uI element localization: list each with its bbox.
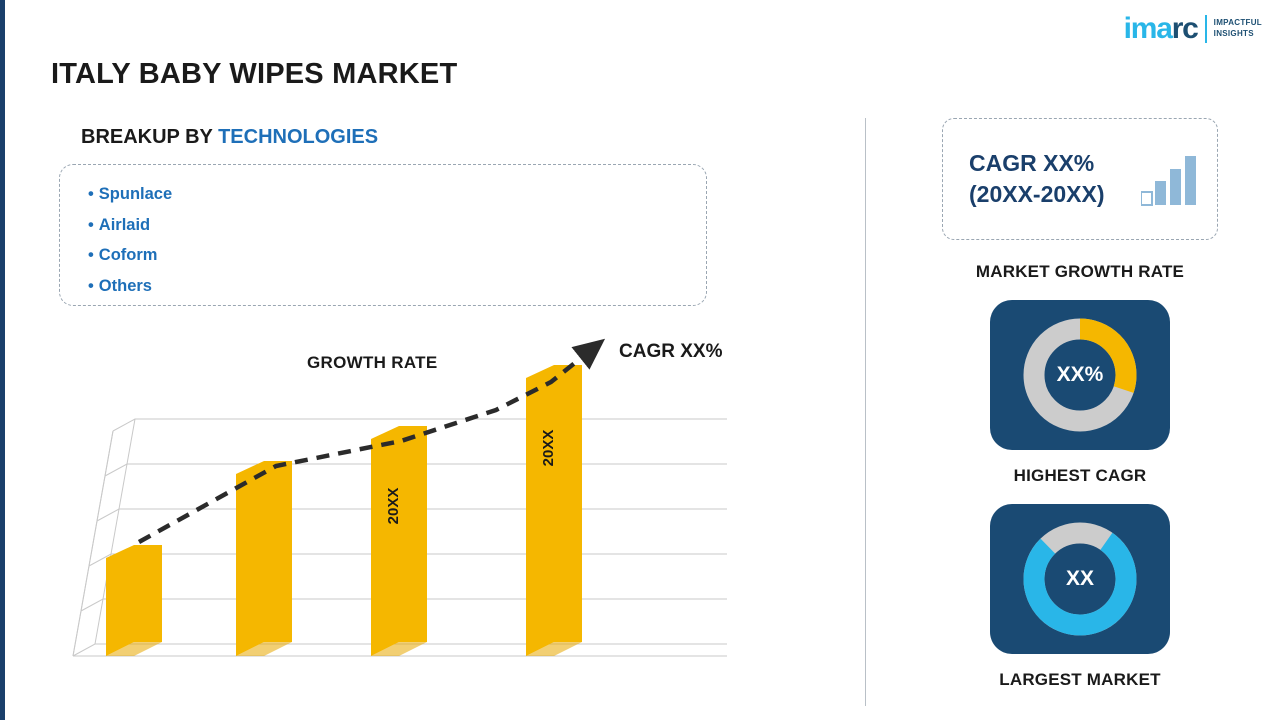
chart-axis-label: GROWTH RATE	[307, 353, 437, 373]
technologies-list: •Spunlace •Airlaid •Coform •Others	[88, 179, 678, 301]
growth-chart: 20XX 20XX CAGR XX%	[51, 326, 811, 704]
bullet-icon: •	[88, 246, 94, 264]
page-title: ITALY BABY WIPES MARKET	[51, 58, 457, 91]
breakup-heading: BREAKUP BY TECHNOLOGIES	[81, 126, 378, 149]
logo-word-second: rc	[1172, 12, 1198, 45]
highest-cagr-value: XX%	[1057, 363, 1104, 387]
largest-market-caption: LARGEST MARKET	[885, 670, 1275, 690]
largest-market-card: XX	[990, 504, 1170, 654]
list-item: •Others	[88, 271, 678, 302]
largest-market-value: XX	[1066, 567, 1094, 591]
bar-2	[236, 461, 292, 656]
technologies-list-box: •Spunlace •Airlaid •Coform •Others	[59, 164, 707, 306]
list-item-label: Spunlace	[99, 185, 172, 203]
bar-4: 20XX	[526, 365, 582, 656]
breakup-heading-prefix: BREAKUP BY	[81, 126, 218, 148]
highest-cagr-card: XX%	[990, 300, 1170, 450]
logo-divider	[1205, 15, 1207, 43]
logo-tagline-line1: IMPACTFUL	[1214, 18, 1262, 29]
list-item-label: Others	[99, 277, 152, 295]
breakup-heading-accent: TECHNOLOGIES	[218, 126, 378, 148]
logo-word-first: ima	[1124, 12, 1172, 45]
list-item: •Airlaid	[88, 210, 678, 241]
cagr-value: CAGR XX% (20XX-20XX)	[969, 148, 1105, 210]
logo-wordmark: imarc	[1124, 14, 1198, 44]
list-item-label: Airlaid	[99, 216, 150, 234]
growth-chart-svg: 20XX 20XX	[51, 326, 811, 686]
list-item-label: Coform	[99, 246, 158, 264]
list-item: •Spunlace	[88, 179, 678, 210]
cagr-trend-line	[139, 350, 591, 542]
market-growth-rate-caption: MARKET GROWTH RATE	[885, 262, 1275, 282]
vertical-divider	[865, 118, 866, 706]
slide-canvas: imarc IMPACTFUL INSIGHTS ITALY BABY WIPE…	[0, 0, 1280, 720]
bar-3: 20XX	[371, 426, 427, 656]
bar-label-3: 20XX	[385, 488, 402, 525]
bar-1	[106, 545, 162, 656]
list-item: •Coform	[88, 240, 678, 271]
imarc-logo: imarc IMPACTFUL INSIGHTS	[1124, 14, 1262, 44]
logo-tagline-line2: INSIGHTS	[1214, 29, 1262, 40]
bar-chart-icon	[1141, 154, 1199, 211]
bar-label-4: 20XX	[540, 430, 557, 467]
highest-cagr-caption: HIGHEST CAGR	[885, 466, 1275, 486]
bullet-icon: •	[88, 277, 94, 295]
market-growth-rate-box: CAGR XX% (20XX-20XX)	[942, 118, 1218, 240]
bullet-icon: •	[88, 185, 94, 203]
cagr-trend-label: CAGR XX%	[619, 341, 722, 363]
logo-tagline: IMPACTFUL INSIGHTS	[1214, 18, 1262, 40]
bullet-icon: •	[88, 216, 94, 234]
kpi-column: CAGR XX% (20XX-20XX) MARKET GROWTH RATE …	[885, 118, 1275, 690]
